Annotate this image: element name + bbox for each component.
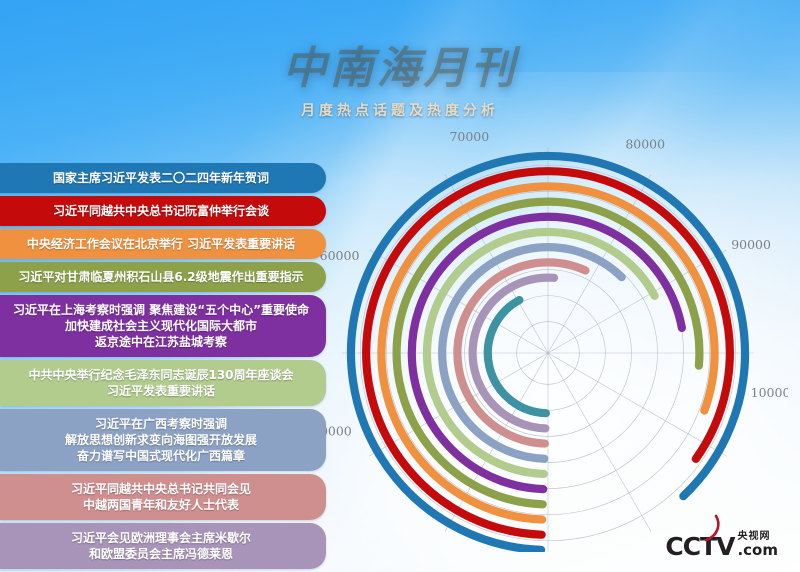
legend-item[interactable]: 国家主席习近平发表二〇二四年新年贺词 [0,163,326,193]
legend-item-label: 习近平在上海考察时强调 聚焦建设“五个中心”重要使命 加快建成社会主义现代化国际… [13,303,309,349]
cctv-arc-icon [692,512,722,542]
cctv-logo: CCTV 央视网 .com [665,532,778,558]
legend-item[interactable]: 习近平同越共中央总书记阮富仲举行会谈 [0,196,326,226]
legend-item[interactable]: 中央经济工作会议在北京举行 习近平发表重要讲话 [0,229,326,259]
legend-item-label: 习近平在广西考察时强调 解放思想创新求变向海图强开放发展 奋力谱写中国式现代化广… [65,417,257,463]
axis-tick-label: 100000 [751,385,788,400]
axis-tick-label: 80000 [625,137,665,152]
legend-item-label: 国家主席习近平发表二〇二四年新年贺词 [53,171,269,185]
legend-item-label: 中央经济工作会议在北京举行 习近平发表重要讲话 [27,237,295,251]
legend-item-label: 习近平会见欧洲理事会主席米歇尔 和欧盟委员会主席冯德莱恩 [71,531,251,561]
radial-bar-chart: 400005000060000700008000090000100000 [318,122,788,552]
axis-tick-label: 90000 [731,237,771,252]
cctv-com-label: .com [737,543,778,558]
axis-tick-label: 70000 [449,129,489,144]
legend-list: 国家主席习近平发表二〇二四年新年贺词习近平同越共中央总书记阮富仲举行会谈中央经济… [0,163,326,572]
page-title: 中南海月刊 [0,44,800,88]
legend-item-label: 中共中央举行纪念毛泽东同志诞辰130周年座谈会 习近平发表重要讲话 [28,368,293,398]
page-title-block: 中南海月刊 月度热点话题及热度分析 [0,44,800,120]
page-subtitle: 月度热点话题及热度分析 [0,100,800,120]
legend-item-label: 习近平对甘肃临夏州积石山县6.2级地震作出重要指示 [18,270,303,284]
legend-item-label: 习近平同越共中央总书记共同会见 中越两国青年和友好人士代表 [71,482,251,512]
cctv-suffix-block: 央视网 .com [737,532,778,558]
legend-item[interactable]: 中共中央举行纪念毛泽东同志诞辰130周年座谈会 习近平发表重要讲话 [0,360,326,406]
legend-item[interactable]: 习近平在广西考察时强调 解放思想创新求变向海图强开放发展 奋力谱写中国式现代化广… [0,409,326,471]
legend-item[interactable]: 习近平对甘肃临夏州积石山县6.2级地震作出重要指示 [0,262,326,292]
legend-item-label: 习近平同越共中央总书记阮富仲举行会谈 [53,204,269,218]
legend-item[interactable]: 习近平同越共中央总书记共同会见 中越两国青年和友好人士代表 [0,474,326,520]
radial-chart-svg: 400005000060000700008000090000100000 [318,122,788,552]
legend-item[interactable]: 习近平会见欧洲理事会主席米歇尔 和欧盟委员会主席冯德莱恩 [0,523,326,569]
legend-item[interactable]: 习近平在上海考察时强调 聚焦建设“五个中心”重要使命 加快建成社会主义现代化国际… [0,295,326,357]
